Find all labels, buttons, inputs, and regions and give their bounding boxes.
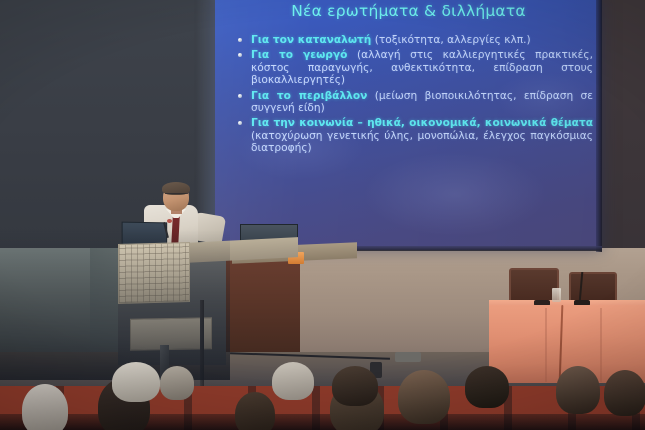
bullet-lead: Για τον καταναλωτή — [251, 34, 371, 46]
list-item: Για το γεωργό (αλλαγή στις καλλιεργητικέ… — [235, 49, 593, 86]
audience-head — [465, 366, 509, 408]
room-shadow — [0, 230, 230, 380]
right-wall-panel — [600, 0, 645, 272]
podium-microphone-head — [167, 219, 172, 223]
bullet-lead: Για την κοινωνία – ηθικά, οικονομικά, κο… — [251, 117, 593, 129]
bullet-lead: Για το περιβάλλον — [251, 90, 367, 102]
projection-screen: Νέα ερωτήματα & διλλήματα Για τον κατανα… — [215, 0, 602, 250]
slide-title: Νέα ερωτήματα & διλλήματα — [215, 2, 602, 20]
audience-head — [332, 366, 378, 406]
slide-bullet-list: Για τον καταναλωτή (τοξικότητα, αλλεργίε… — [235, 34, 593, 158]
audience-head — [272, 362, 314, 400]
list-item: Για την κοινωνία – ηθικά, οικονομικά, κο… — [235, 117, 593, 154]
audience-head — [556, 366, 600, 414]
audience-head — [604, 370, 645, 416]
bullet-dot-icon — [238, 121, 242, 125]
lectern-cabinet — [222, 252, 300, 352]
audience-head — [398, 370, 450, 424]
bullet-lead: Για το γεωργό — [251, 49, 347, 61]
audience-area — [0, 362, 645, 430]
seat-row-shadow — [0, 414, 645, 430]
audience-head — [235, 392, 275, 430]
list-item: Για τον καταναλωτή (τοξικότητα, αλλεργίε… — [235, 34, 593, 46]
bullet-dot-icon — [238, 53, 242, 57]
bullet-dot-icon — [238, 38, 242, 42]
bullet-dot-icon — [238, 94, 242, 98]
water-glass — [552, 288, 561, 302]
audience-head — [160, 366, 194, 400]
list-item: Για το περιβάλλον (μείωση βιοποικιλότητα… — [235, 90, 593, 115]
bullet-rest: (τοξικότητα, αλλεργίες κλπ.) — [375, 34, 531, 46]
screen-right-edge — [596, 0, 602, 252]
presentation-photo: Νέα ερωτήματα & διλλήματα Για τον κατανα… — [0, 0, 645, 430]
audience-head — [22, 384, 68, 430]
speaker-glasses — [165, 193, 188, 199]
audience-head — [112, 362, 160, 402]
bullet-rest: (κατοχύρωση γενετικής ύλης, μονοπώλια, έ… — [251, 130, 593, 154]
floor-equipment — [395, 352, 421, 362]
